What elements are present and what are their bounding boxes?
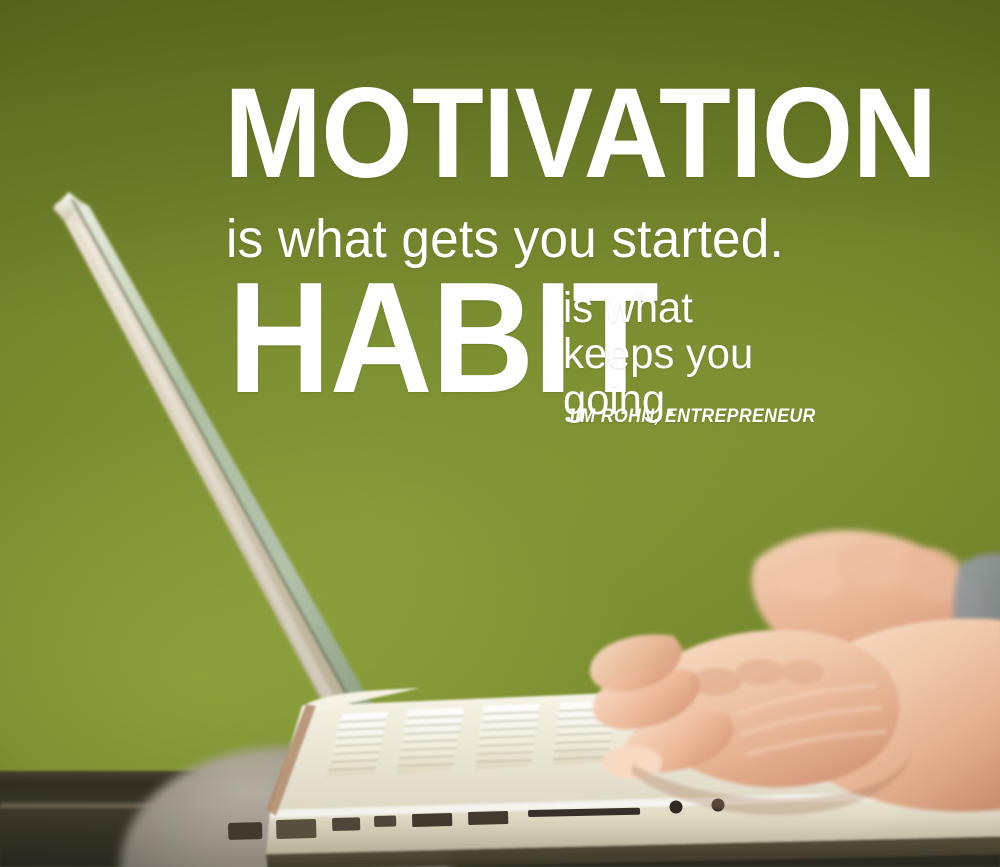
headline-motivation: MOTIVATION [224,79,937,189]
quote-block: MOTIVATION is what gets you started. HAB… [0,0,1000,460]
quote-attribution: JIM ROHN, ENTREPRENEUR [565,407,816,426]
subtext-keeps-you-going: is what keeps you going. [563,285,753,423]
quote-poster: MOTIVATION is what gets you started. HAB… [0,0,1000,867]
